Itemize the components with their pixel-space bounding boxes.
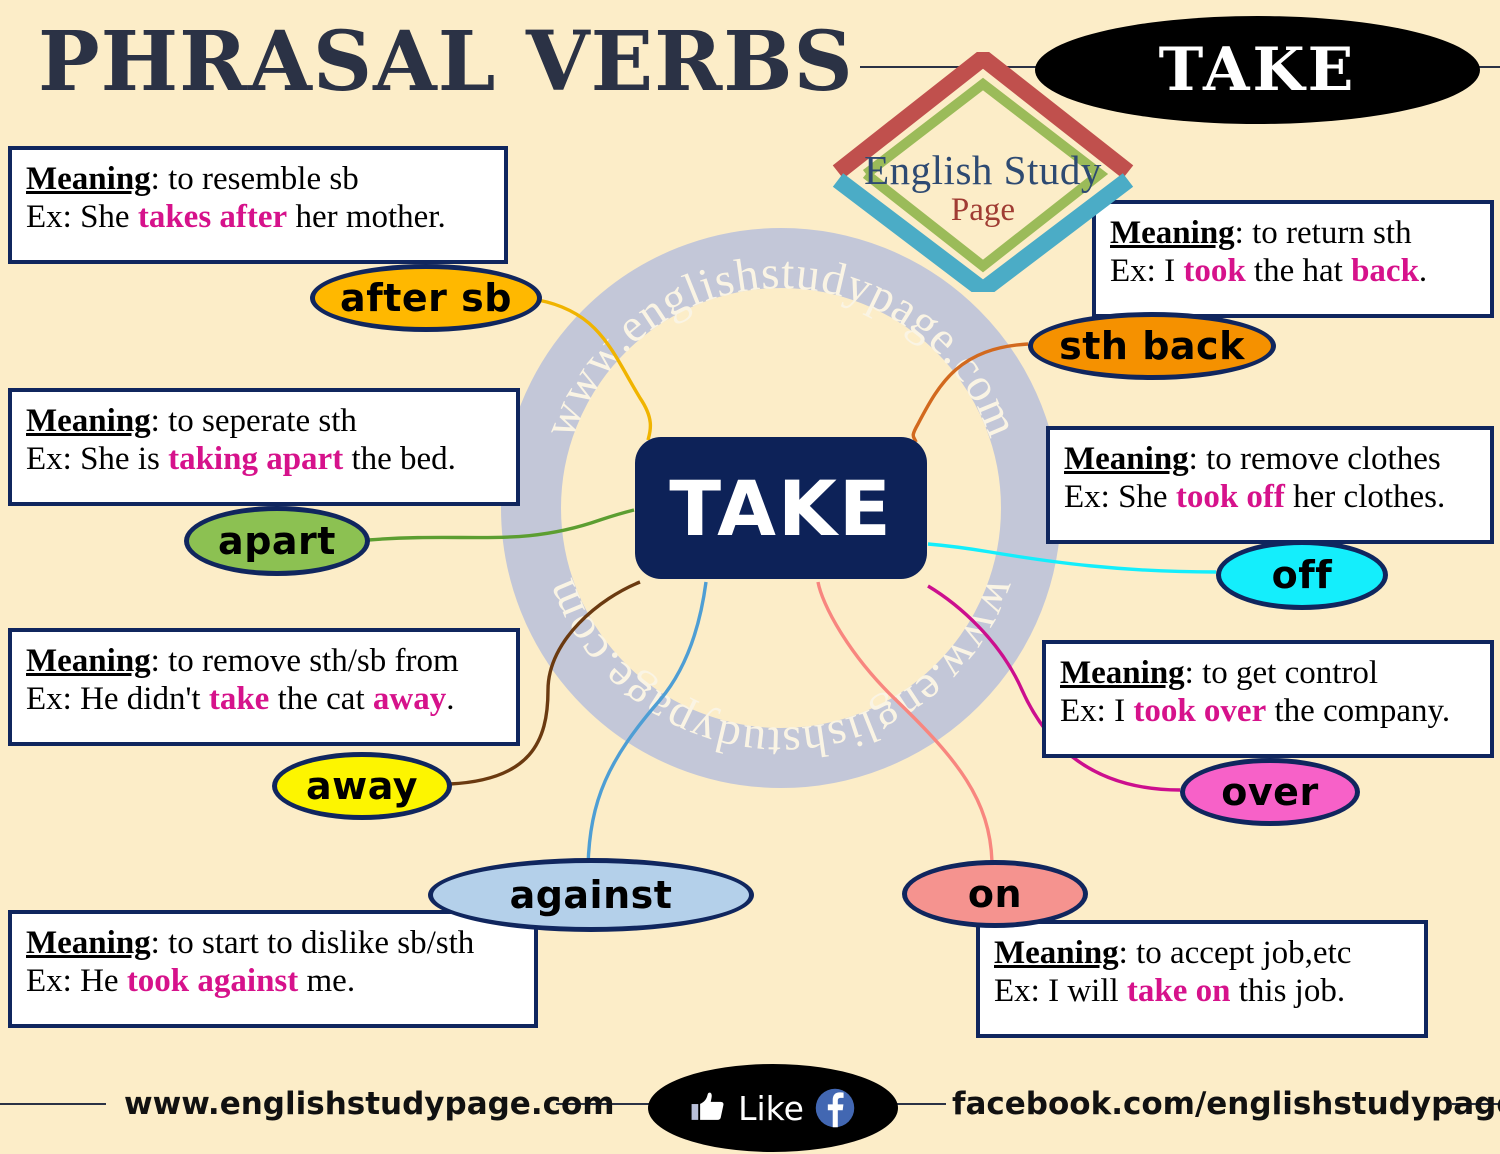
meaning-text: : to seperate sth xyxy=(151,403,357,439)
node-label: sth back xyxy=(1059,324,1245,368)
take-badge-label: TAKE xyxy=(1159,35,1357,105)
example-highlight-2: back xyxy=(1351,253,1419,289)
node-off[interactable]: off xyxy=(1216,540,1388,610)
example-post: her mother. xyxy=(287,199,446,235)
example-line: Ex: I took the hat back. xyxy=(1110,252,1476,290)
node-on[interactable]: on xyxy=(902,860,1088,928)
example-pre: He didn't xyxy=(72,681,209,717)
example-label: Ex: xyxy=(26,963,72,999)
meaning-text: : to start to dislike sb/sth xyxy=(151,925,475,961)
example-pre: She is xyxy=(72,441,168,477)
node-label: on xyxy=(968,872,1022,916)
node-label: against xyxy=(510,873,673,917)
node-against[interactable]: against xyxy=(428,858,754,932)
facebook-icon xyxy=(814,1087,856,1129)
example-line: Ex: He didn't take the cat away. xyxy=(26,680,502,718)
example-line: Ex: She takes after her mother. xyxy=(26,198,490,236)
example-line: Ex: She is taking apart the bed. xyxy=(26,440,502,478)
page-title: PHRASAL VERBS xyxy=(38,14,854,110)
meaning-label: Meaning xyxy=(994,935,1119,971)
footer-facebook[interactable]: facebook.com/englishstudypage xyxy=(952,1086,1500,1122)
example-highlight: took over xyxy=(1133,693,1266,729)
example-line: Ex: He took against me. xyxy=(26,962,520,1000)
meaning-box-over: Meaning: to get control Ex: I took over … xyxy=(1042,640,1494,758)
node-label: away xyxy=(306,764,418,808)
meaning-label: Meaning xyxy=(26,403,151,439)
example-line: Ex: I will take on this job. xyxy=(994,972,1410,1010)
example-pre: I xyxy=(1106,693,1134,729)
node-apart[interactable]: apart xyxy=(184,506,370,576)
example-post: her clothes. xyxy=(1285,479,1445,515)
meaning-line: Meaning: to return sth xyxy=(1110,214,1476,252)
meaning-line: Meaning: to accept job,etc xyxy=(994,934,1410,972)
take-badge: TAKE xyxy=(1035,16,1480,124)
meaning-text: : to remove sth/sb from xyxy=(151,643,459,679)
example-pre: She xyxy=(72,199,138,235)
meaning-line: Meaning: to resemble sb xyxy=(26,160,490,198)
example-post: this job. xyxy=(1231,973,1346,1009)
node-label: off xyxy=(1272,553,1333,597)
example-highlight: takes after xyxy=(138,199,287,235)
meaning-box-sth-back: Meaning: to return sth Ex: I took the ha… xyxy=(1092,200,1494,318)
like-label: Like xyxy=(738,1089,804,1128)
example-post: . xyxy=(1419,253,1427,289)
meaning-label: Meaning xyxy=(26,161,151,197)
example-highlight: taking apart xyxy=(168,441,343,477)
meaning-box-away: Meaning: to remove sth/sb from Ex: He di… xyxy=(8,628,520,746)
meaning-label: Meaning xyxy=(26,643,151,679)
meaning-line: Meaning: to remove clothes xyxy=(1064,440,1476,478)
example-pre: He xyxy=(72,963,127,999)
logo-title: English Study xyxy=(818,146,1148,194)
example-mid: the hat xyxy=(1246,253,1351,289)
connector-sth-back xyxy=(913,344,1028,442)
node-label: over xyxy=(1221,770,1318,814)
node-label: after sb xyxy=(340,276,512,320)
example-pre: I xyxy=(1156,253,1184,289)
meaning-text: : to accept job,etc xyxy=(1119,935,1352,971)
meaning-box-on: Meaning: to accept job,etc Ex: I will ta… xyxy=(976,920,1428,1038)
example-line: Ex: I took over the company. xyxy=(1060,692,1476,730)
example-pre: I will xyxy=(1040,973,1127,1009)
node-over[interactable]: over xyxy=(1180,758,1360,826)
example-pre: She xyxy=(1110,479,1176,515)
meaning-text: : to get control xyxy=(1185,655,1378,691)
center-node-take[interactable]: TAKE xyxy=(635,437,927,579)
logo-subtitle: Page xyxy=(818,192,1148,229)
connector-apart xyxy=(368,510,634,540)
meaning-label: Meaning xyxy=(1064,441,1189,477)
facebook-like-button[interactable]: Like xyxy=(648,1064,898,1152)
example-highlight: take on xyxy=(1127,973,1231,1009)
example-post: the company. xyxy=(1266,693,1450,729)
example-line: Ex: She took off her clothes. xyxy=(1064,478,1476,516)
meaning-label: Meaning xyxy=(1060,655,1185,691)
meaning-text: : to return sth xyxy=(1235,215,1412,251)
node-away[interactable]: away xyxy=(272,752,452,820)
meaning-text: : to resemble sb xyxy=(151,161,359,197)
example-post: the bed. xyxy=(343,441,456,477)
example-post: me. xyxy=(298,963,355,999)
center-node-label: TAKE xyxy=(669,464,893,553)
example-label: Ex: xyxy=(1064,479,1110,515)
meaning-line: Meaning: to seperate sth xyxy=(26,402,502,440)
connector-against xyxy=(588,582,706,866)
example-highlight: take xyxy=(209,681,270,717)
thumbs-up-icon xyxy=(690,1089,728,1127)
example-label: Ex: xyxy=(994,973,1040,1009)
footer-website[interactable]: www.englishstudypage.com xyxy=(124,1086,615,1122)
connector-after-sb xyxy=(538,300,650,440)
meaning-box-off: Meaning: to remove clothes Ex: She took … xyxy=(1046,426,1494,544)
meaning-line: Meaning: to get control xyxy=(1060,654,1476,692)
example-label: Ex: xyxy=(26,441,72,477)
example-highlight: took off xyxy=(1176,479,1285,515)
example-post: . xyxy=(446,681,454,717)
example-highlight-2: away xyxy=(373,681,446,717)
watermark-text-bottom: www.englishstudypage.com xyxy=(533,571,1029,769)
meaning-line: Meaning: to start to dislike sb/sth xyxy=(26,924,520,962)
example-label: Ex: xyxy=(26,681,72,717)
connector-off xyxy=(928,544,1216,572)
infographic-poster: www.englishstudypage.com www.englishstud… xyxy=(0,0,1500,1154)
example-label: Ex: xyxy=(1060,693,1106,729)
node-after-sb[interactable]: after sb xyxy=(310,264,542,332)
example-highlight: took against xyxy=(127,963,298,999)
footer-rule-left xyxy=(0,1103,106,1105)
meaning-box-after-sb: Meaning: to resemble sb Ex: She takes af… xyxy=(8,146,508,264)
meaning-box-against: Meaning: to start to dislike sb/sth Ex: … xyxy=(8,910,538,1028)
meaning-box-apart: Meaning: to seperate sth Ex: She is taki… xyxy=(8,388,520,506)
meaning-text: : to remove clothes xyxy=(1189,441,1441,477)
node-sth-back[interactable]: sth back xyxy=(1028,312,1276,380)
connector-on xyxy=(818,582,992,862)
example-label: Ex: xyxy=(26,199,72,235)
example-highlight: took xyxy=(1183,253,1245,289)
svg-text:www.englishstudypage.com: www.englishstudypage.com xyxy=(533,571,1029,769)
example-mid: the cat xyxy=(269,681,373,717)
meaning-line: Meaning: to remove sth/sb from xyxy=(26,642,502,680)
node-label: apart xyxy=(218,519,336,563)
meaning-label: Meaning xyxy=(26,925,151,961)
